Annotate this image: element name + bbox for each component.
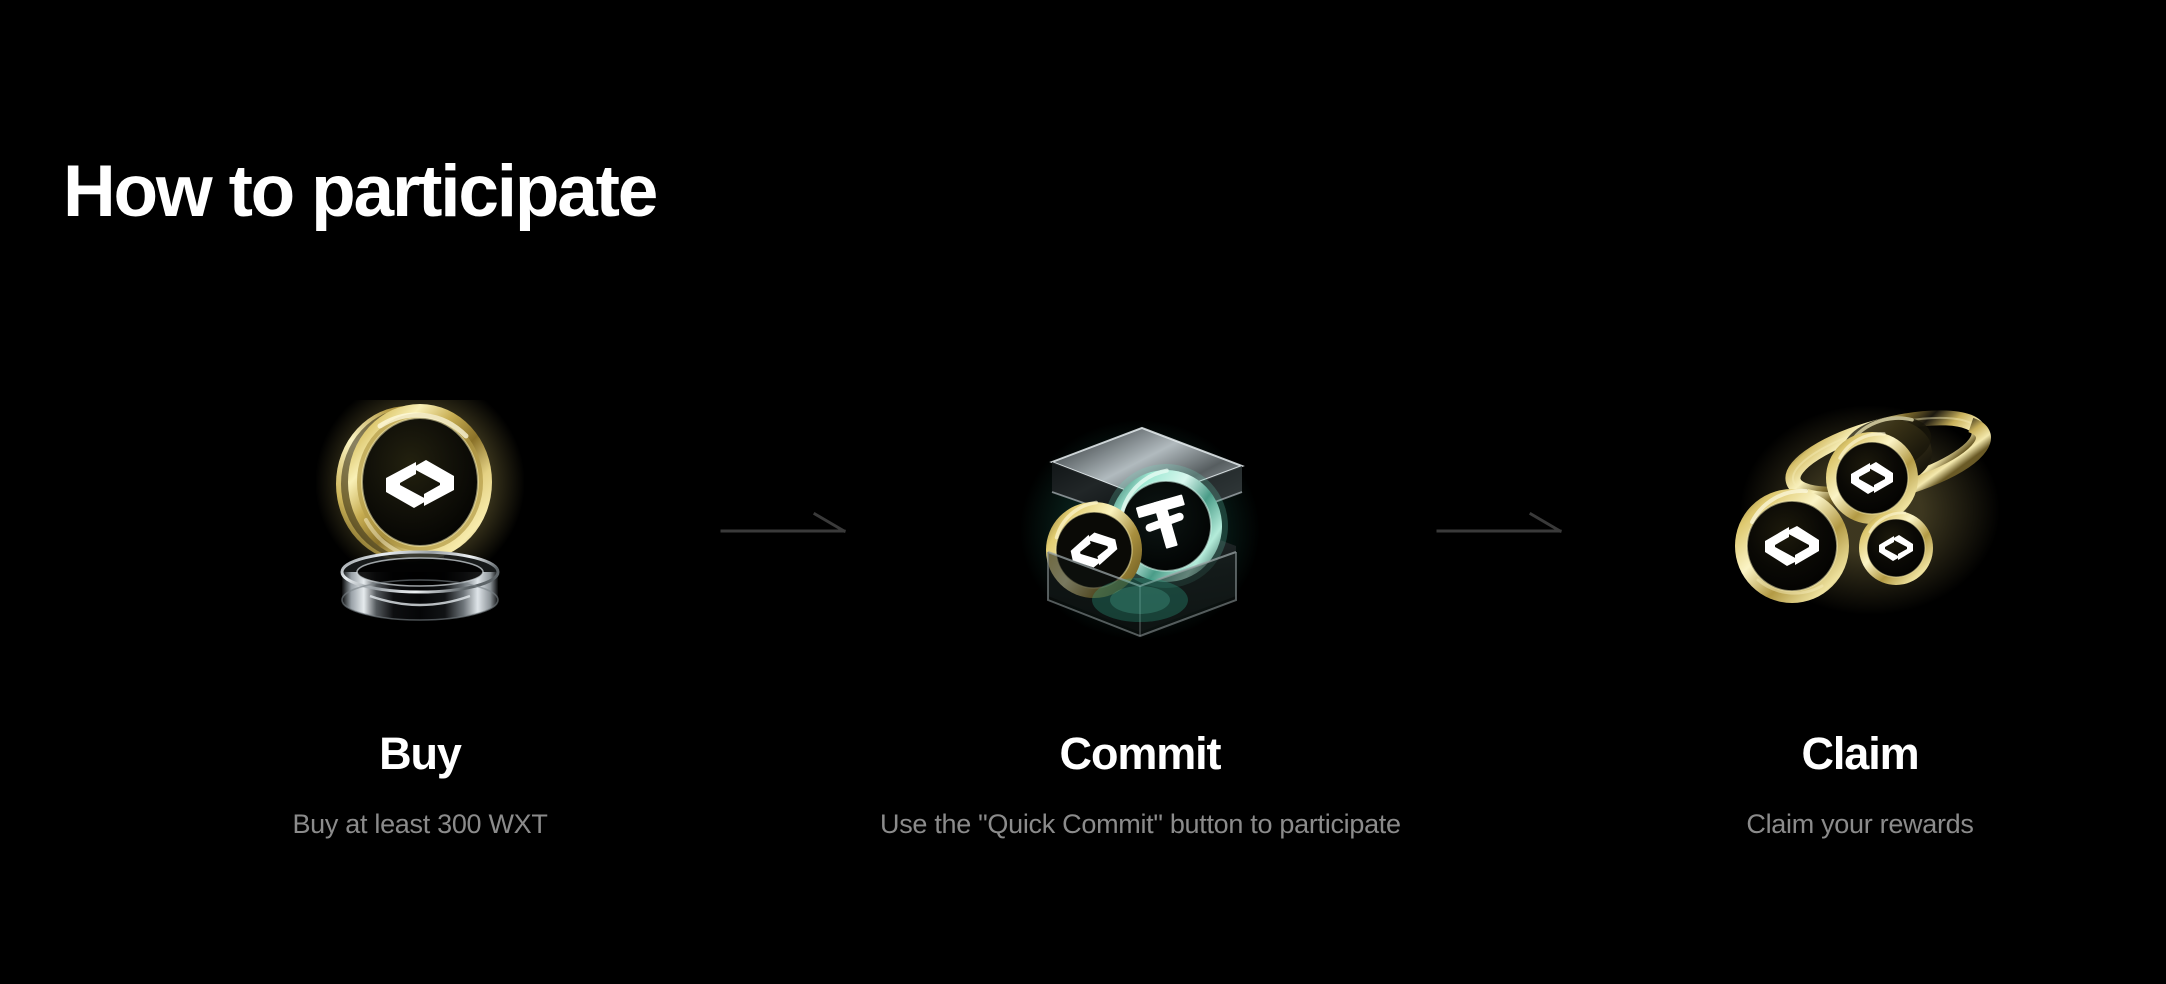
step-commit: Commit Use the "Quick Commit" button to … — [880, 400, 1400, 840]
step-commit-description: Use the "Quick Commit" button to partici… — [880, 808, 1400, 840]
step-buy-title: Buy — [160, 728, 680, 780]
glass-box-with-coins-icon — [990, 400, 1290, 650]
page-title: How to participate — [63, 150, 656, 234]
step-claim: Claim Claim your rewards — [1600, 400, 2120, 840]
step-commit-title: Commit — [880, 728, 1400, 780]
how-to-participate-section: How to participate — [0, 0, 2166, 984]
step-claim-title: Claim — [1600, 728, 2120, 780]
steps-row: Buy Buy at least 300 WXT — [0, 400, 2166, 870]
gold-coins-with-ring-icon — [1710, 400, 2010, 650]
wxt-coin-upper — [1826, 432, 1918, 524]
step-buy-illustration — [160, 400, 680, 650]
step-buy-description: Buy at least 300 WXT — [160, 808, 680, 840]
wxt-coin-large — [1735, 489, 1849, 603]
step-commit-illustration — [880, 400, 1400, 650]
wxt-coin-on-pedestal-icon — [270, 400, 570, 650]
step-claim-description: Claim your rewards — [1600, 808, 2120, 840]
step-claim-illustration — [1600, 400, 2120, 650]
glass-pedestal — [342, 552, 498, 620]
wxt-coin-small — [1859, 511, 1933, 585]
step-buy: Buy Buy at least 300 WXT — [160, 400, 680, 840]
